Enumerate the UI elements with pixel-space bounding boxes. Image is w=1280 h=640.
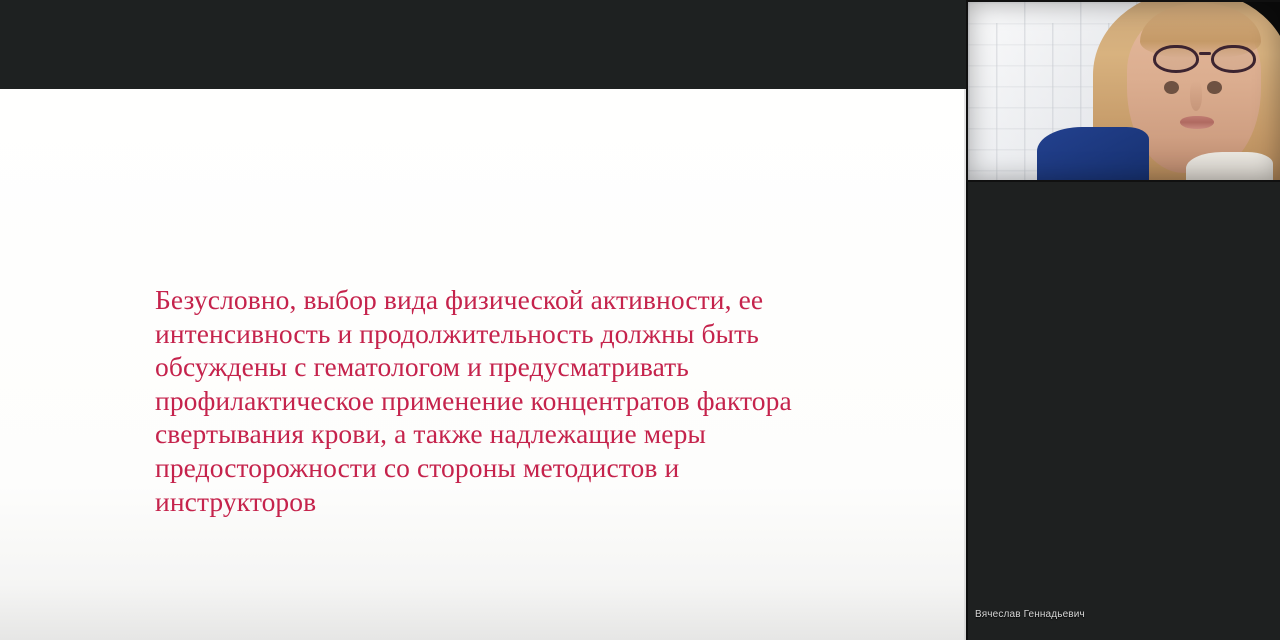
nose xyxy=(1190,81,1202,110)
glasses-bridge xyxy=(1199,52,1211,55)
left-lens xyxy=(1153,45,1198,73)
webcam-video-feed xyxy=(968,2,1280,180)
participant-portrait xyxy=(1093,2,1280,180)
rail-divider xyxy=(966,182,968,640)
shoulder-jacket xyxy=(1037,127,1149,180)
left-eye xyxy=(1164,81,1179,94)
conference-screen: Безусловно, выбор вида физической активн… xyxy=(0,0,1280,640)
participant-name-badge: Вячеслав Геннадьевич xyxy=(975,609,1085,621)
shoulder-shirt xyxy=(1186,152,1272,180)
lips xyxy=(1180,116,1214,129)
slide-content: Безусловно, выбор вида физической активн… xyxy=(155,283,855,518)
webcam-tile[interactable] xyxy=(966,0,1280,182)
slide-paragraph: Безусловно, выбор вида физической активн… xyxy=(155,283,855,518)
eyeglasses-icon xyxy=(1153,45,1255,73)
participants-rail[interactable] xyxy=(966,182,1280,640)
shared-slide-stage[interactable]: Безусловно, выбор вида физической активн… xyxy=(0,89,966,640)
right-lens xyxy=(1211,45,1256,73)
right-eye xyxy=(1207,81,1222,94)
